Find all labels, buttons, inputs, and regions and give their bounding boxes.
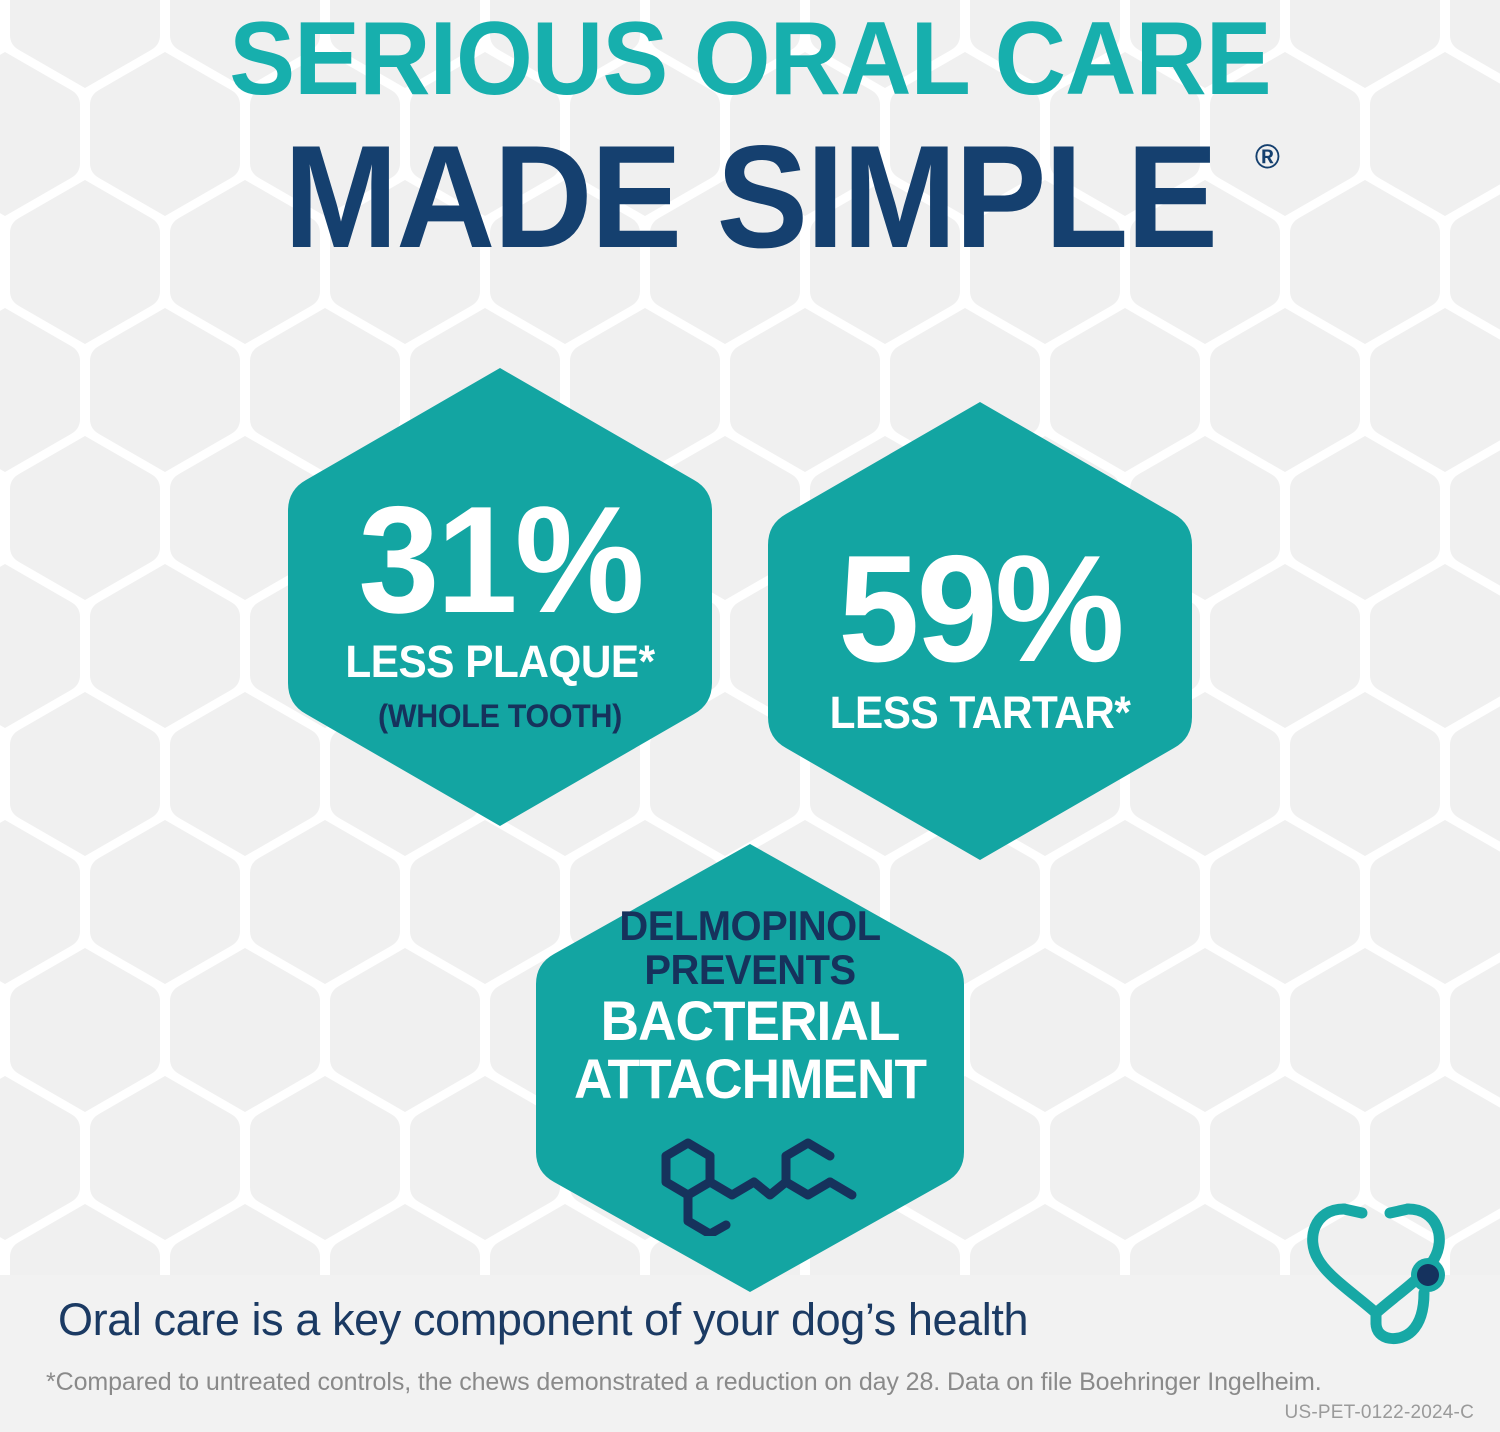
footer-tagline: Oral care is a key component of your dog… xyxy=(58,1293,1028,1347)
chestpiece-center-icon xyxy=(1417,1264,1439,1286)
footer-code: US-PET-0122-2024-C xyxy=(1285,1402,1474,1424)
molecule-diagram-icon xyxy=(640,1118,860,1236)
stat-badge-tartar: 59% LESS TARTAR* xyxy=(762,396,1198,866)
stat-badge-tartar-content: 59% LESS TARTAR* xyxy=(762,524,1198,738)
delmopinol-line-3: BACTERIAL xyxy=(541,992,959,1050)
stat-note-plaque: (WHOLE TOOTH) xyxy=(293,697,707,735)
headline-line-2-wrapper: MADE SIMPLE ® xyxy=(254,122,1246,318)
registered-trademark-icon: ® xyxy=(1255,140,1280,174)
stat-badge-delmopinol: DELMOPINOL PREVENTS BACTERIAL ATTACHMENT xyxy=(530,838,970,1298)
delmopinol-line-4: ATTACHMENT xyxy=(541,1050,959,1108)
stat-badge-delmopinol-content: DELMOPINOL PREVENTS BACTERIAL ATTACHMENT xyxy=(530,900,970,1236)
stat-percent-tartar: 59% xyxy=(771,534,1190,684)
headline-line-2: MADE SIMPLE xyxy=(284,122,1216,272)
stat-label-plaque: LESS PLAQUE* xyxy=(295,637,705,687)
stat-badge-plaque: 31% LESS PLAQUE* (WHOLE TOOTH) xyxy=(282,362,718,832)
delmopinol-line-2: PREVENTS xyxy=(541,948,959,992)
footer-disclaimer: *Compared to untreated controls, the che… xyxy=(46,1367,1322,1397)
delmopinol-line-1: DELMOPINOL xyxy=(541,904,959,948)
headline-block: SERIOUS ORAL CARE MADE SIMPLE ® xyxy=(0,0,1500,318)
stat-percent-plaque: 31% xyxy=(291,485,710,635)
stethoscope-heart-icon xyxy=(1300,1197,1460,1347)
stat-badge-plaque-content: 31% LESS PLAQUE* (WHOLE TOOTH) xyxy=(282,459,718,735)
stat-label-tartar: LESS TARTAR* xyxy=(775,688,1185,738)
headline-line-1: SERIOUS ORAL CARE xyxy=(38,0,1463,118)
